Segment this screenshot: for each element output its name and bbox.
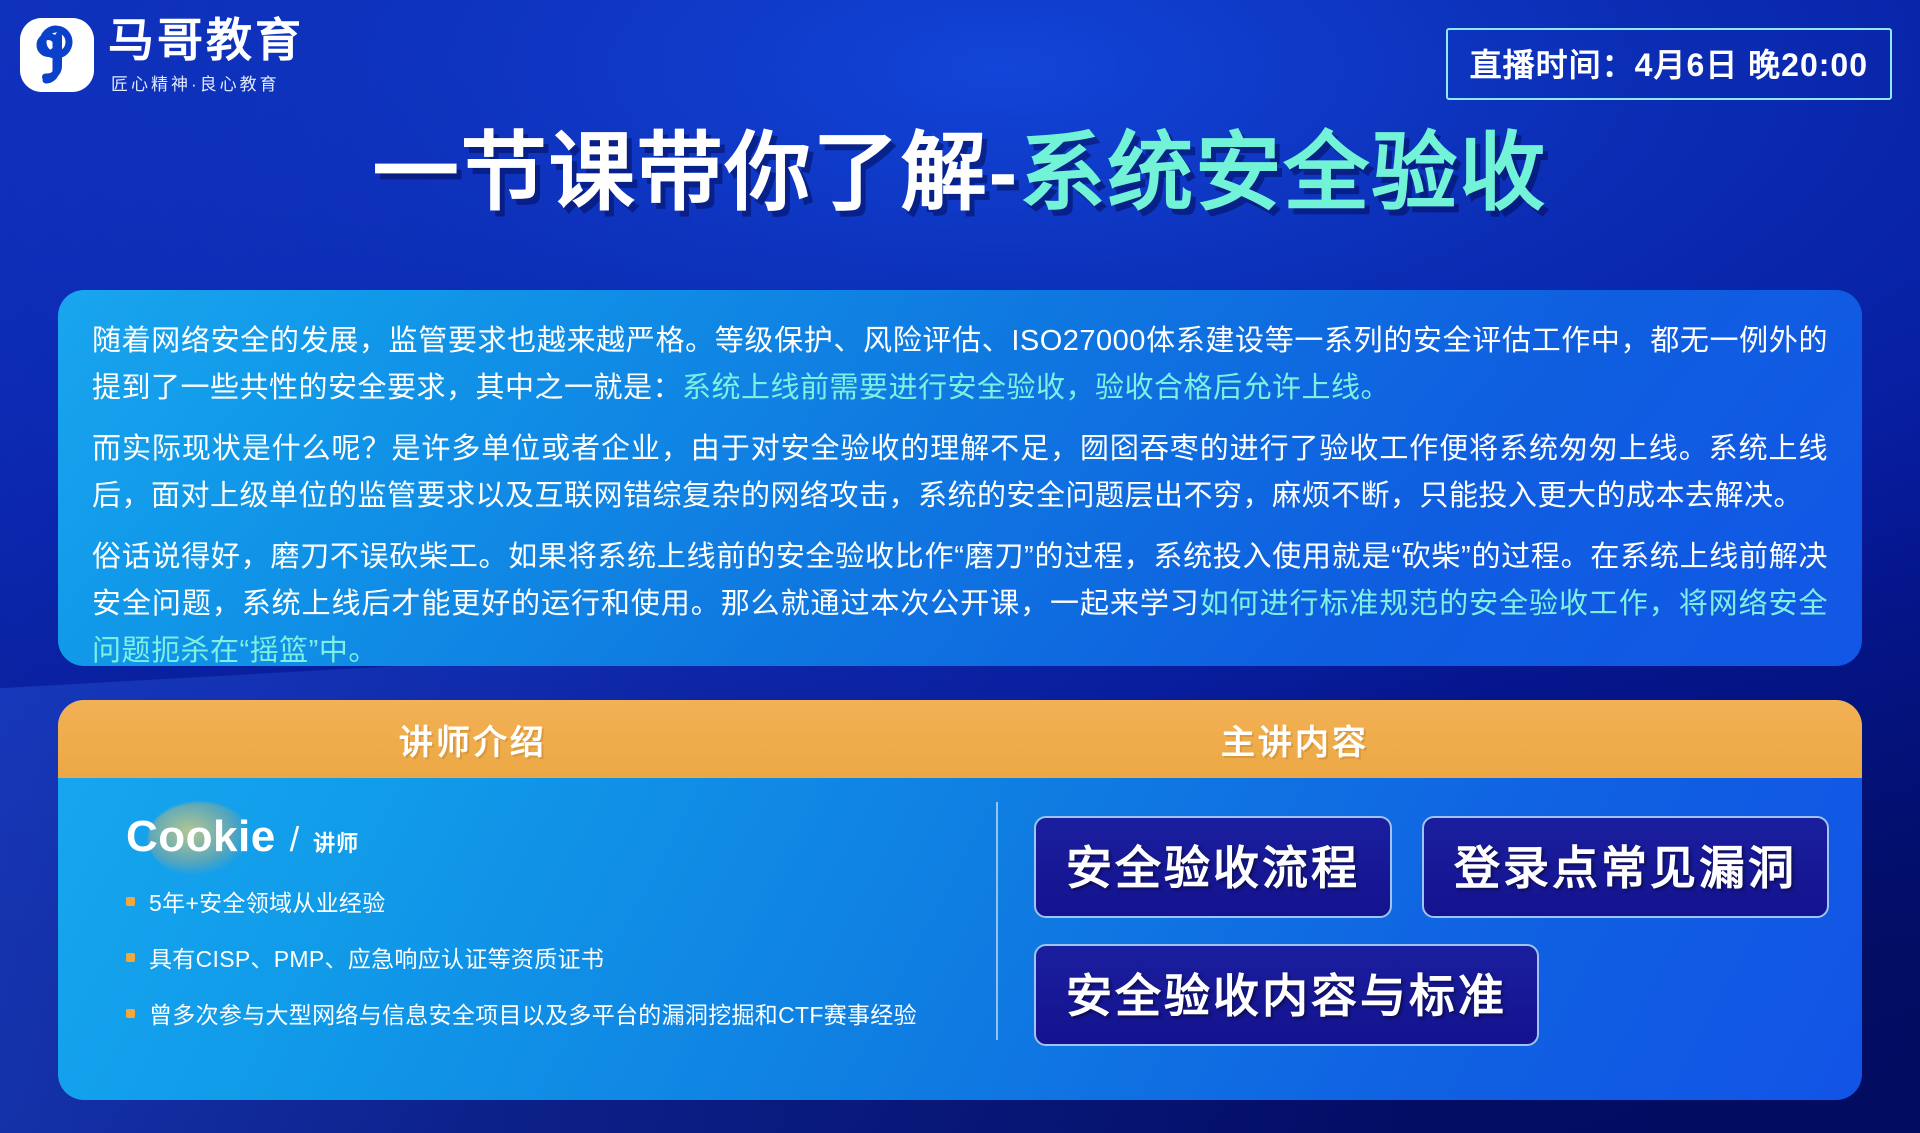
topic-chip[interactable]: 安全验收内容与标准 bbox=[1034, 944, 1539, 1046]
title-cyan-part: 系统安全验收 bbox=[1019, 125, 1547, 221]
speaker-role: 讲师 bbox=[313, 826, 359, 858]
section-divider bbox=[996, 802, 998, 1040]
section-title-topics: 主讲内容 bbox=[888, 715, 1862, 764]
topic-chip-label: 登录点常见漏洞 bbox=[1454, 832, 1797, 898]
speaker-nameline: Cookie / 讲师 bbox=[126, 812, 996, 862]
brand-text: 马哥教育 匠心精神·良心教育 bbox=[108, 14, 304, 95]
speaker-bullet-text: 曾多次参与大型网络与信息安全项目以及多平台的漏洞挖掘和CTF赛事经验 bbox=[149, 996, 917, 1030]
speaker-name: Cookie bbox=[126, 812, 276, 862]
intro-paragraph: 而实际现状是什么呢？是许多单位或者企业，由于对安全验收的理解不足，囫囵吞枣的进行… bbox=[92, 426, 1828, 520]
brand-tagline: 匠心精神·良心教育 bbox=[111, 70, 304, 95]
intro-text: 而实际现状是什么呢？是许多单位或者企业，由于对安全验收的理解不足，囫囵吞枣的进行… bbox=[92, 433, 1828, 512]
title-white-part: 一节课带你了解- bbox=[373, 125, 1020, 221]
topic-chip[interactable]: 登录点常见漏洞 bbox=[1422, 816, 1829, 918]
topic-chip-label: 安全验收内容与标准 bbox=[1066, 960, 1507, 1026]
brand-name: 马哥教育 bbox=[108, 16, 304, 64]
header: 马哥教育 匠心精神·良心教育 直播时间：4月6日 晚20:00 bbox=[0, 0, 1920, 120]
speaker-bullet-list: 5年+安全领域从业经验具有CISP、PMP、应急响应认证等资质证书曾多次参与大型… bbox=[126, 884, 996, 1030]
brand-logo: 马哥教育 匠心精神·良心教育 bbox=[20, 14, 304, 95]
speaker-separator: / bbox=[290, 821, 299, 860]
details-panel: 讲师介绍 主讲内容 Cookie / 讲师 5年+安全领域从业经验具有CISP、… bbox=[58, 700, 1862, 1100]
speaker-block: Cookie / 讲师 5年+安全领域从业经验具有CISP、PMP、应急响应认证… bbox=[58, 778, 996, 1100]
intro-panel: 随着网络安全的发展，监管要求也越来越严格。等级保护、风险评估、ISO27000体… bbox=[58, 290, 1862, 666]
bullet-dot-icon bbox=[126, 1009, 135, 1018]
speaker-bullet-text: 5年+安全领域从业经验 bbox=[149, 884, 386, 918]
intro-highlight: 系统上线前需要进行安全验收，验收合格后允许上线。 bbox=[682, 372, 1390, 404]
magedu-logo-icon bbox=[20, 18, 94, 92]
speaker-bullet-item: 具有CISP、PMP、应急响应认证等资质证书 bbox=[126, 940, 996, 974]
topic-row: 安全验收流程登录点常见漏洞 bbox=[1034, 816, 1862, 918]
intro-paragraph: 俗话说得好，磨刀不误砍柴工。如果将系统上线前的安全验收比作“磨刀”的过程，系统投… bbox=[92, 534, 1828, 675]
page-title: 一节课带你了解-系统安全验收 bbox=[0, 130, 1920, 216]
section-header-bar: 讲师介绍 主讲内容 bbox=[58, 700, 1862, 778]
bullet-dot-icon bbox=[126, 897, 135, 906]
intro-paragraph: 随着网络安全的发展，监管要求也越来越严格。等级保护、风险评估、ISO27000体… bbox=[92, 318, 1828, 412]
speaker-bullet-item: 曾多次参与大型网络与信息安全项目以及多平台的漏洞挖掘和CTF赛事经验 bbox=[126, 996, 996, 1030]
bullet-dot-icon bbox=[126, 953, 135, 962]
live-time-badge: 直播时间：4月6日 晚20:00 bbox=[1446, 28, 1892, 100]
topic-chip-label: 安全验收流程 bbox=[1066, 832, 1360, 898]
topic-chip[interactable]: 安全验收流程 bbox=[1034, 816, 1392, 918]
topics-block: 安全验收流程登录点常见漏洞安全验收内容与标准 bbox=[996, 778, 1862, 1100]
section-title-speaker: 讲师介绍 bbox=[58, 715, 888, 764]
live-time-text: 直播时间：4月6日 晚20:00 bbox=[1470, 47, 1868, 83]
speaker-bullet-item: 5年+安全领域从业经验 bbox=[126, 884, 996, 918]
topic-row: 安全验收内容与标准 bbox=[1034, 944, 1862, 1046]
speaker-bullet-text: 具有CISP、PMP、应急响应认证等资质证书 bbox=[149, 940, 604, 974]
